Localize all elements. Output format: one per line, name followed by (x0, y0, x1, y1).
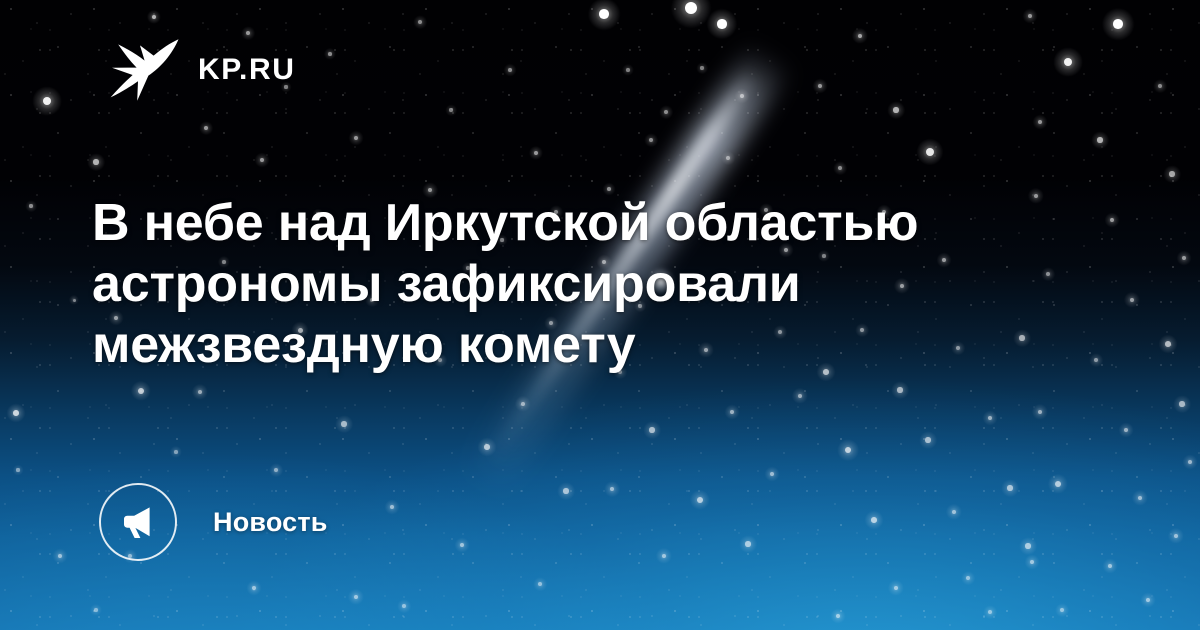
star (534, 151, 538, 155)
badge-icon-circle (99, 483, 177, 561)
star (152, 15, 156, 19)
star (328, 52, 332, 56)
star (521, 402, 526, 407)
star (204, 126, 208, 130)
star (563, 488, 568, 493)
star (893, 107, 898, 112)
page-title: В небе над Иркутской областью астрономы … (92, 193, 1052, 376)
star (252, 586, 256, 590)
star (198, 390, 203, 395)
star (1169, 171, 1174, 176)
star (664, 110, 668, 114)
star (1130, 298, 1135, 303)
star (685, 2, 697, 14)
star (1146, 598, 1150, 602)
star (1038, 120, 1042, 124)
star (1025, 543, 1030, 548)
star (1094, 358, 1098, 362)
star (1028, 14, 1032, 18)
star (1110, 218, 1114, 222)
star (1055, 481, 1061, 487)
star (1158, 84, 1162, 88)
star (29, 204, 32, 207)
star (697, 497, 703, 503)
star (662, 554, 667, 559)
star (1182, 256, 1186, 260)
status-badge-label: Новость (213, 509, 328, 536)
star (952, 510, 957, 515)
star (484, 444, 490, 450)
star (341, 421, 346, 426)
star (988, 610, 992, 614)
star (966, 576, 970, 580)
star (449, 108, 452, 111)
star (1113, 19, 1123, 29)
star (740, 94, 744, 98)
star (260, 158, 264, 162)
star (1138, 496, 1143, 501)
star (354, 595, 359, 600)
star (836, 614, 840, 618)
star (1179, 401, 1184, 406)
star (745, 541, 750, 546)
star (730, 410, 734, 414)
star (402, 604, 406, 608)
star (43, 97, 52, 106)
star (871, 517, 877, 523)
status-badge[interactable]: Новость (99, 483, 328, 561)
social-share-card: KP.RU В небе над Иркутской областью астр… (0, 0, 1200, 630)
star (138, 388, 144, 394)
star (770, 472, 774, 476)
star (858, 34, 863, 39)
star (354, 136, 358, 140)
star (649, 138, 653, 142)
star (1174, 534, 1179, 539)
star (428, 188, 433, 193)
star (717, 19, 726, 28)
megaphone-icon (117, 501, 159, 543)
star (94, 608, 98, 612)
swallow-bird-logo-icon (104, 36, 180, 104)
star (626, 68, 630, 72)
star (274, 468, 278, 472)
star (897, 387, 902, 392)
star (73, 299, 76, 302)
star (1097, 137, 1102, 142)
star (610, 487, 615, 492)
star (926, 148, 934, 156)
star (1038, 410, 1043, 415)
star (838, 166, 842, 170)
star (93, 159, 98, 164)
star (1007, 485, 1012, 490)
star (1060, 608, 1064, 612)
star (174, 450, 178, 454)
star (1030, 560, 1034, 564)
star (58, 554, 62, 558)
brand-name: KP.RU (198, 55, 295, 85)
star (418, 20, 422, 24)
star (538, 582, 542, 586)
star (1108, 564, 1112, 568)
star (599, 9, 609, 19)
star (16, 468, 19, 471)
star (246, 31, 250, 35)
star (1188, 460, 1192, 464)
star (700, 66, 703, 69)
star (798, 394, 803, 399)
star (818, 84, 822, 88)
star (460, 543, 464, 547)
star (13, 410, 19, 416)
star (925, 437, 930, 442)
star (988, 416, 992, 420)
star (1165, 341, 1171, 347)
star (508, 68, 512, 72)
star (1064, 58, 1073, 67)
star (1124, 428, 1128, 432)
star (649, 427, 654, 432)
star (726, 156, 730, 160)
brand-logo[interactable]: KP.RU (104, 36, 295, 104)
star (845, 447, 851, 453)
star (894, 586, 899, 591)
star (607, 187, 611, 191)
star (390, 505, 394, 509)
